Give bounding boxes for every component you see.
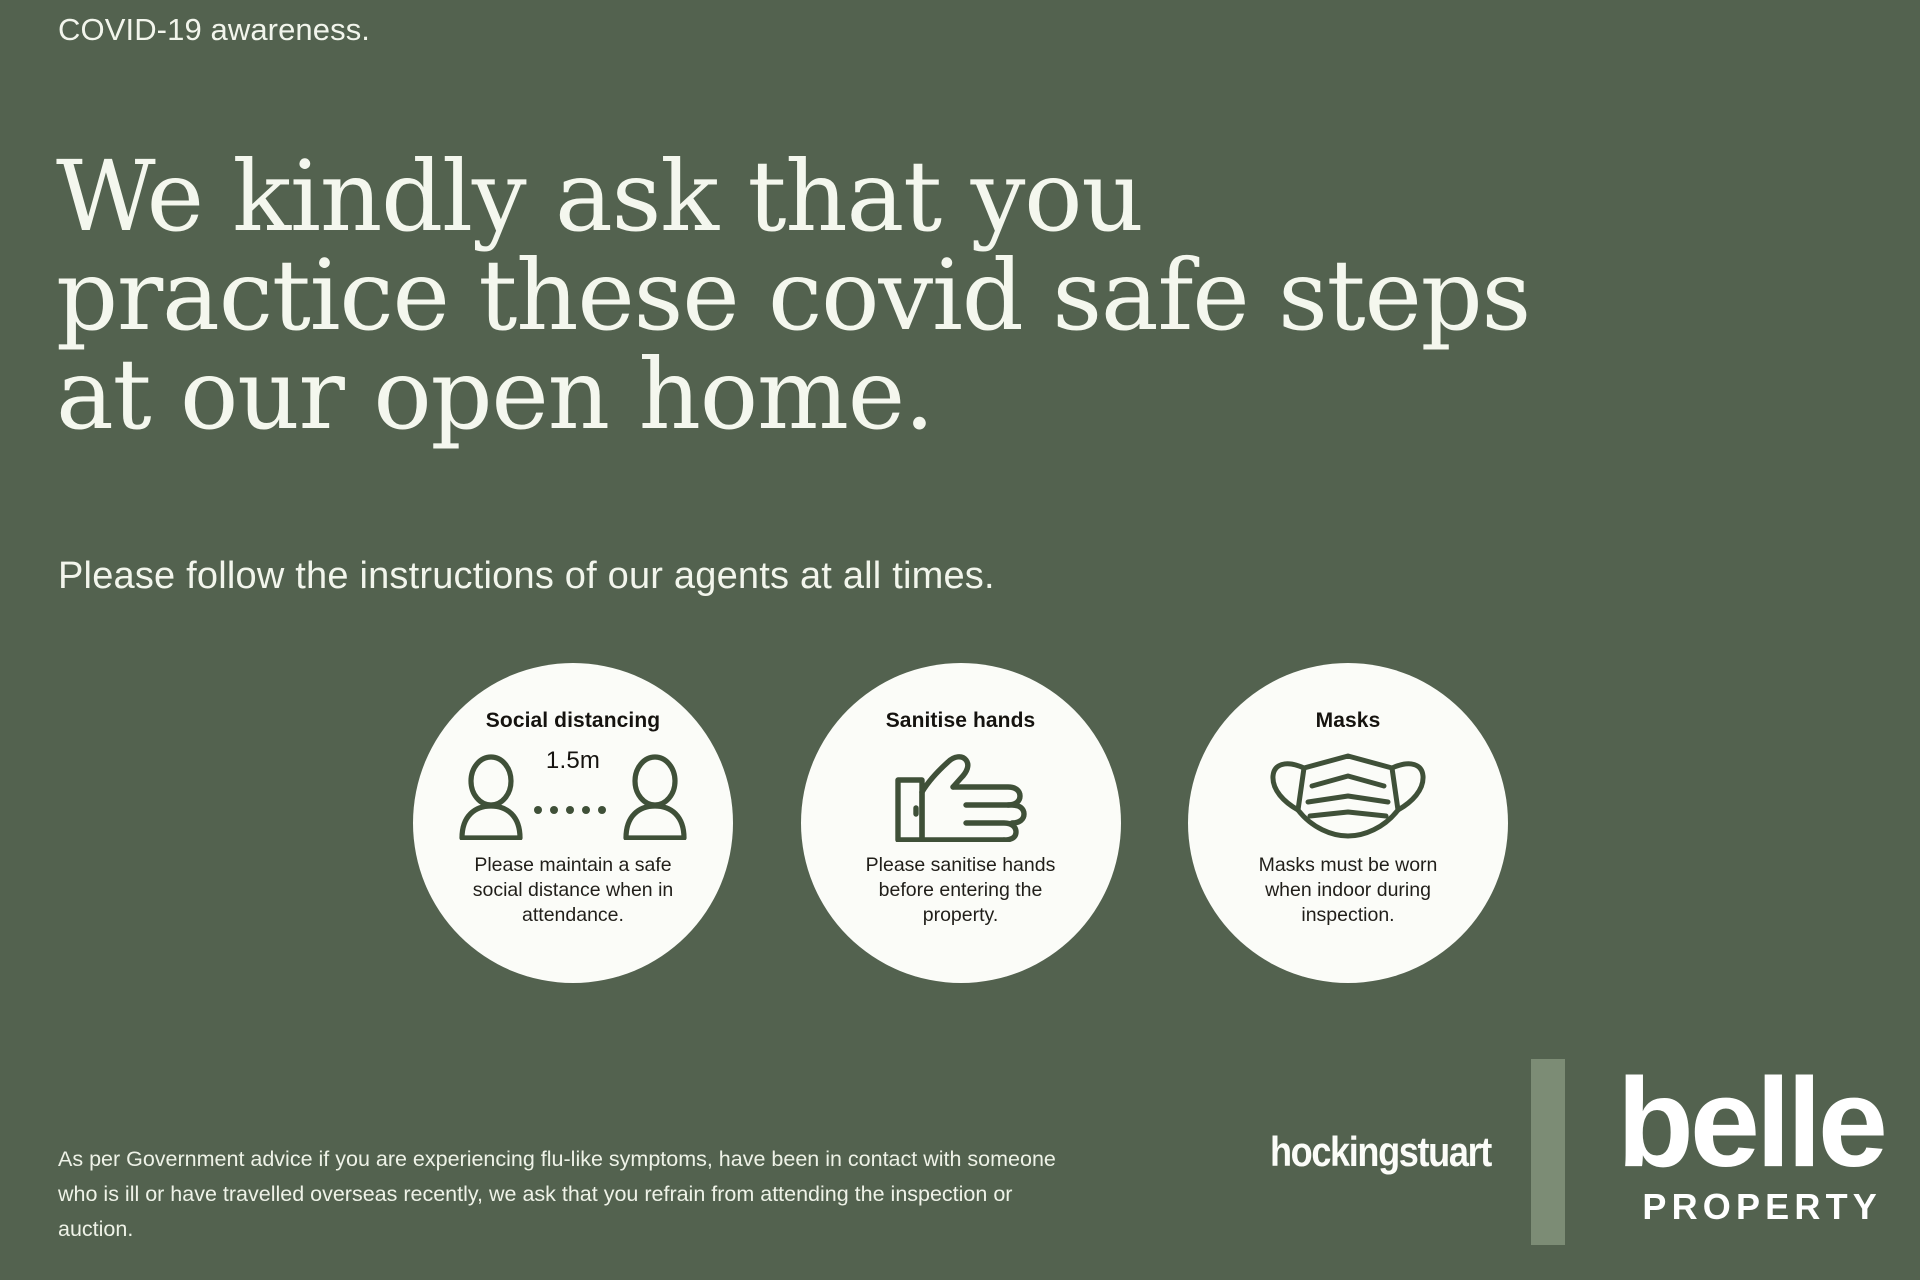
belle-property-logo: belle PROPERTY <box>1617 1070 1884 1234</box>
logo-divider-bar <box>1531 1059 1565 1245</box>
distance-label: 1.5m <box>546 747 600 774</box>
hand-sanitise-icon <box>886 747 1036 841</box>
government-advice-disclaimer: As per Government advice if you are expe… <box>58 1142 1088 1246</box>
belle-property-subtext: PROPERTY <box>1642 1186 1882 1228</box>
step-description: Masks must be worn when indoor during in… <box>1233 853 1463 928</box>
step-title: Social distancing <box>486 709 660 733</box>
step-card-social-distancing: Social distancing 1.5m <box>413 663 733 983</box>
logo-lockup: hockingstuart belle PROPERTY <box>1234 1052 1884 1252</box>
step-title: Sanitise hands <box>886 709 1036 733</box>
step-description: Please maintain a safe social distance w… <box>458 853 688 928</box>
step-description: Please sanitise hands before entering th… <box>846 853 1076 928</box>
face-mask-icon <box>1264 747 1432 841</box>
subheading: Please follow the instructions of our ag… <box>58 555 995 598</box>
belle-wordmark: belle <box>1617 1070 1884 1176</box>
step-title: Masks <box>1316 709 1381 733</box>
step-card-masks: Masks Masks must be worn when indoor dur… <box>1188 663 1508 983</box>
headline-line-1: We kindly ask that you <box>56 148 1756 247</box>
step-card-sanitise-hands: Sanitise hands Please sanitise hands bef… <box>801 663 1121 983</box>
hockingstuart-logo: hockingstuart <box>1270 1128 1491 1176</box>
headline-line-2: practice these covid safe steps <box>56 247 1756 346</box>
headline-line-3: at our open home. <box>56 346 1756 445</box>
page-title: We kindly ask that you practice these co… <box>56 148 1756 445</box>
covid-steps-row: Social distancing 1.5m <box>413 663 1508 983</box>
covid-awareness-eyebrow: COVID-19 awareness. <box>58 12 370 48</box>
